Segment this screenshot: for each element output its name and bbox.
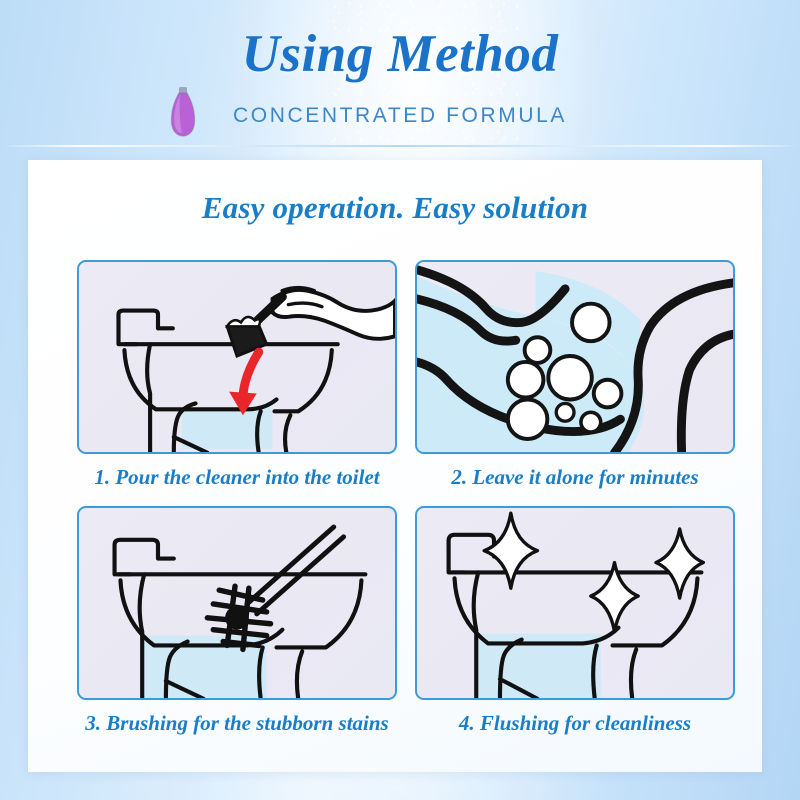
step-1: 1. Pour the cleaner into the toilet	[77, 260, 397, 506]
page-subtitle: CONCENTRATED FORMULA	[0, 104, 800, 128]
step-3-illustration	[77, 506, 397, 700]
spoon-with-powder-icon	[227, 297, 282, 356]
step-2-illustration	[415, 260, 735, 454]
step-4-illustration	[415, 506, 735, 700]
steps-grid: 1. Pour the cleaner into the toilet	[77, 260, 737, 752]
page-title: Using Method	[0, 24, 800, 84]
step-1-illustration	[77, 260, 397, 454]
hand-icon	[273, 288, 395, 339]
step-1-caption: 1. Pour the cleaner into the toilet	[77, 465, 397, 490]
header-divider	[0, 145, 800, 147]
poster-root: Using Method CONCENTRATED FORMULA Easy o…	[0, 0, 800, 800]
step-2-caption: 2. Leave it alone for minutes	[415, 465, 735, 490]
step-3-caption: 3. Brushing for the stubborn stains	[77, 711, 397, 736]
toilet-brush-icon	[207, 527, 343, 649]
step-2: 2. Leave it alone for minutes	[415, 260, 735, 506]
section-title: Easy operation. Easy solution	[28, 190, 762, 226]
red-down-arrow-icon	[229, 352, 259, 415]
step-4: 4. Flushing for cleanliness	[415, 506, 735, 752]
step-4-caption: 4. Flushing for cleanliness	[415, 711, 735, 736]
content-card: Easy operation. Easy solution	[28, 160, 762, 772]
step-3: 3. Brushing for the stubborn stains	[77, 506, 397, 752]
